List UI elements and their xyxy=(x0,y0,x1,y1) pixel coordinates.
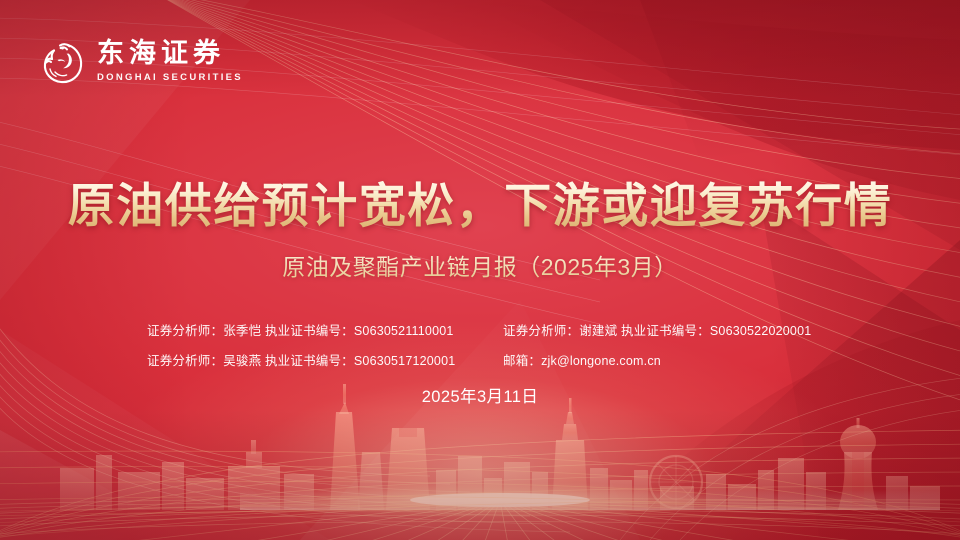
donghai-dragon-emblem-icon xyxy=(38,36,86,88)
brand-name-cn: 东海证券 xyxy=(97,39,243,68)
analyst-zhang-jikai: 证券分析师：张季恺 执业证书编号：S0630521110001 xyxy=(147,320,457,339)
analyst-wu-junyan: 证券分析师：吴骏燕 执业证书编号：S0630517120001 xyxy=(147,350,457,369)
credit-row: 证券分析师：张季恺 执业证书编号：S0630521110001 证券分析师：谢建… xyxy=(0,320,960,339)
page-title: 原油供给预计宽松，下游或迎复苏行情 xyxy=(0,178,960,233)
analyst-credits: 证券分析师：张季恺 执业证书编号：S0630521110001 证券分析师：谢建… xyxy=(0,320,960,369)
page-subtitle: 原油及聚酯产业链月报（2025年3月） xyxy=(0,248,960,282)
publish-date: 2025年3月11日 xyxy=(0,383,960,407)
presentation-cover-slide: 东海证券 DONGHAI SECURITIES 原油供给预计宽松，下游或迎复苏行… xyxy=(0,0,960,540)
contact-email: 邮箱：zjk@longone.com.cn xyxy=(503,350,813,369)
credit-row: 证券分析师：吴骏燕 执业证书编号：S0630517120001 邮箱：zjk@l… xyxy=(0,350,960,369)
brand-name-en: DONGHAI SECURITIES xyxy=(97,70,243,85)
brand-logo: 东海证券 DONGHAI SECURITIES xyxy=(38,36,243,88)
analyst-xie-jianbin: 证券分析师：谢建斌 执业证书编号：S0630522020001 xyxy=(503,320,813,339)
